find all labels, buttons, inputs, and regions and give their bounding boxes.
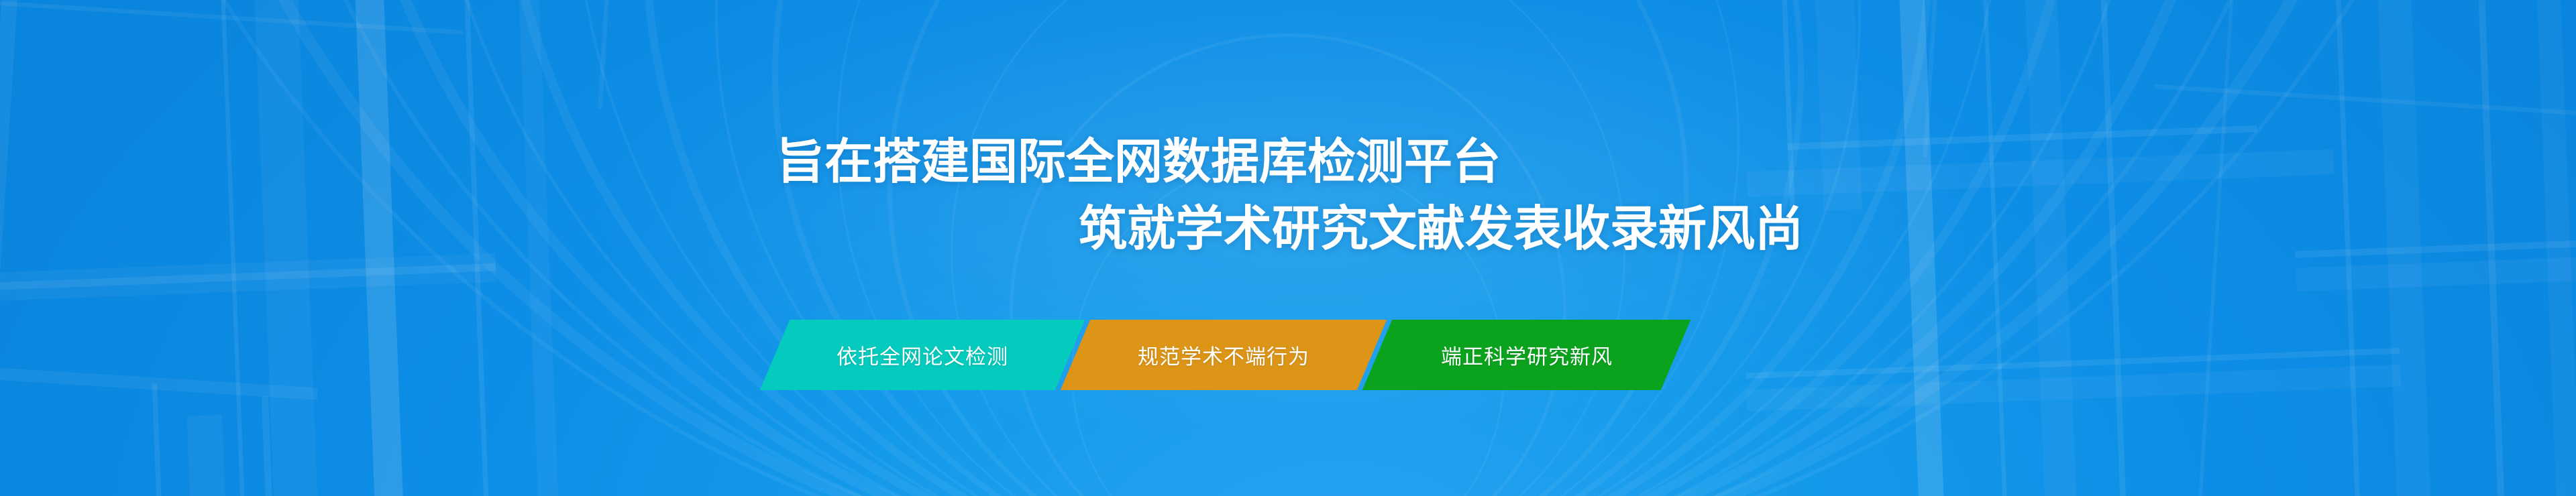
headline-line-2: 筑就学术研究文献发表收录新风尚 — [1079, 205, 1803, 253]
badge-full-web-paper-detection[interactable]: 依托全网论文检测 — [760, 320, 1085, 390]
badge-label-1: 依托全网论文检测 — [837, 340, 1008, 370]
headline-line-1: 旨在搭建国际全网数据库检测平台 — [776, 138, 1501, 186]
promo-banner: 旨在搭建国际全网数据库检测平台 筑就学术研究文献发表收录新风尚 依托全网论文检测… — [0, 0, 2576, 496]
badge-upright-research-ethos[interactable]: 端正科学研究新风 — [1362, 320, 1691, 390]
badge-label-3: 端正科学研究新风 — [1441, 340, 1613, 370]
feature-badge-row: 依托全网论文检测 规范学术不端行为 端正科学研究新风 — [775, 320, 1676, 390]
badge-regulate-academic-misconduct[interactable]: 规范学术不端行为 — [1061, 320, 1387, 390]
badge-label-2: 规范学术不端行为 — [1138, 340, 1309, 370]
